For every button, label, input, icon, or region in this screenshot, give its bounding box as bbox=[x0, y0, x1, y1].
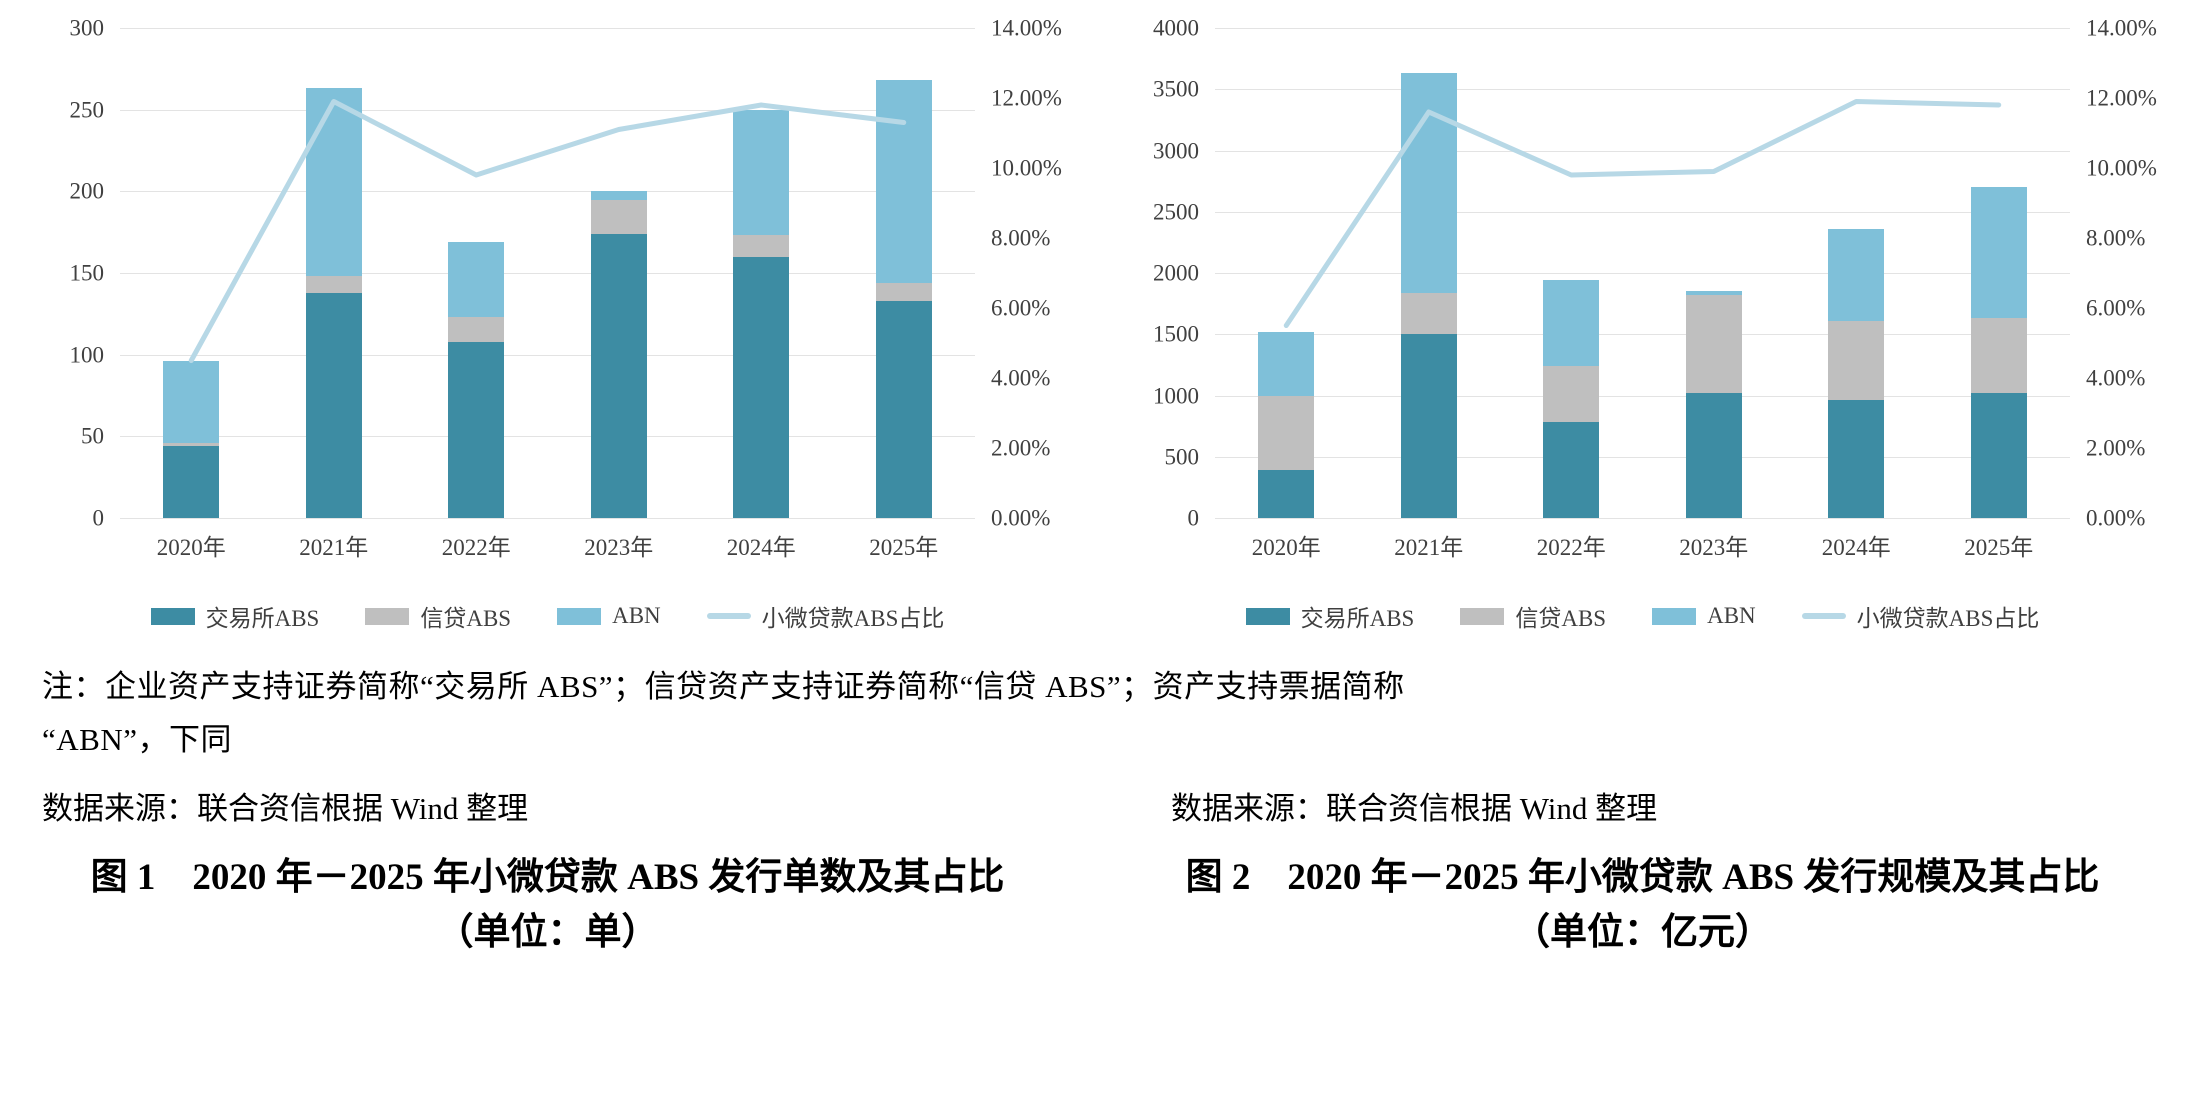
chart-right-line-path bbox=[1286, 102, 1999, 326]
chart-right-tick-right-0: 0.00% bbox=[2070, 507, 2190, 530]
chart-right-tick-left-1: 500 bbox=[1095, 445, 1215, 468]
chart-left-tick-left-2: 100 bbox=[0, 343, 120, 366]
chart-right-x-label: 2024年 bbox=[1785, 528, 1928, 568]
note-line-1: 注：企业资产支持证券简称“交易所 ABS”；信贷资产支持证券简称“信贷 ABS”… bbox=[0, 660, 2190, 713]
chart-right-x-label: 2020年 bbox=[1215, 528, 1358, 568]
chart-left-ratio-line bbox=[120, 28, 975, 518]
chart-right-x-label: 2021年 bbox=[1358, 528, 1501, 568]
caption-figure-2: 图 2 2020 年－2025 年小微贷款 ABS 发行规模及其占比（单位：亿元… bbox=[1095, 850, 2190, 961]
chart-left-tick-right-0: 0.00% bbox=[975, 507, 1095, 530]
chart-right-tick-right-5: 10.00% bbox=[2070, 157, 2190, 180]
chart-right-legend-label: 交易所ABS bbox=[1301, 599, 1415, 633]
page-root: 050100150200250300 0.00%2.00%4.00%6.00%8… bbox=[0, 0, 2190, 1112]
chart-right-x-label: 2025年 bbox=[1928, 528, 2071, 568]
chart-left-legend-item[interactable]: 小微贷款ABS占比 bbox=[707, 599, 945, 633]
chart-right-legend-item[interactable]: 小微贷款ABS占比 bbox=[1802, 599, 2040, 633]
chart-right-x-label: 2023年 bbox=[1643, 528, 1786, 568]
chart-right-line-svg bbox=[1215, 28, 2070, 518]
chart-right-legend-swatch-icon bbox=[1802, 613, 1846, 619]
chart-right-ratio-line bbox=[1215, 28, 2070, 518]
source-right: 数据来源：联合资信根据 Wind 整理 bbox=[1095, 783, 2190, 828]
chart-left-line-path bbox=[191, 102, 904, 361]
notes-section: 注：企业资产支持证券简称“交易所 ABS”；信贷资产支持证券简称“信贷 ABS”… bbox=[0, 660, 2190, 961]
chart-left-x-label: 2021年 bbox=[263, 528, 406, 568]
chart-left-tick-right-5: 10.00% bbox=[975, 157, 1095, 180]
chart-right-legend-swatch-icon bbox=[1652, 608, 1696, 625]
chart-left-tick-right-7: 14.00% bbox=[975, 17, 1095, 40]
chart-left-legend-item[interactable]: 交易所ABS bbox=[151, 599, 320, 633]
chart-left-plot-area bbox=[120, 28, 975, 518]
chart-right-legend-label: 信贷ABS bbox=[1515, 599, 1606, 633]
chart-right-x-axis-labels: 2020年2021年2022年2023年2024年2025年 bbox=[1215, 528, 2070, 568]
chart-right-tick-right-2: 4.00% bbox=[2070, 367, 2190, 390]
chart-left-legend-item[interactable]: 信贷ABS bbox=[365, 599, 511, 633]
chart-right-tick-left-0: 0 bbox=[1095, 507, 1215, 530]
chart-right-tick-right-3: 6.00% bbox=[2070, 297, 2190, 320]
chart-right-tick-left-8: 4000 bbox=[1095, 17, 1215, 40]
chart-left-tick-left-0: 0 bbox=[0, 507, 120, 530]
note-line-2: “ABN”，下同 bbox=[0, 713, 2190, 766]
chart-right-legend: 交易所ABS信贷ABSABN小微贷款ABS占比 bbox=[1095, 596, 2190, 636]
chart-left-tick-left-1: 50 bbox=[0, 425, 120, 448]
chart-left-y-axis-right: 0.00%2.00%4.00%6.00%8.00%10.00%12.00%14.… bbox=[975, 28, 1095, 518]
chart-right-tick-left-3: 1500 bbox=[1095, 323, 1215, 346]
chart-left-legend-label: 小微贷款ABS占比 bbox=[762, 599, 945, 633]
chart-left-x-label: 2024年 bbox=[690, 528, 833, 568]
chart-left-tick-left-6: 300 bbox=[0, 17, 120, 40]
chart-left-tick-left-5: 250 bbox=[0, 98, 120, 121]
chart-left-y-axis-left: 050100150200250300 bbox=[0, 28, 120, 518]
chart-left-legend-label: 交易所ABS bbox=[206, 599, 320, 633]
chart-left-legend: 交易所ABS信贷ABSABN小微贷款ABS占比 bbox=[0, 596, 1095, 636]
sources-row: 数据来源：联合资信根据 Wind 整理 数据来源：联合资信根据 Wind 整理 bbox=[0, 783, 2190, 828]
caption-figure-1: 图 1 2020 年－2025 年小微贷款 ABS 发行单数及其占比（单位：单） bbox=[0, 850, 1095, 961]
chart-right-y-axis-right: 0.00%2.00%4.00%6.00%8.00%10.00%12.00%14.… bbox=[2070, 28, 2190, 518]
chart-left-legend-swatch-icon bbox=[151, 608, 195, 625]
chart-left-x-label: 2025年 bbox=[833, 528, 976, 568]
chart-left-tick-right-1: 2.00% bbox=[975, 437, 1095, 460]
chart-left-legend-swatch-icon bbox=[557, 608, 601, 625]
chart-right-legend-item[interactable]: ABN bbox=[1652, 603, 1756, 629]
chart-left-tick-right-2: 4.00% bbox=[975, 367, 1095, 390]
chart-right-x-label: 2022年 bbox=[1500, 528, 1643, 568]
chart-left-legend-label: 信贷ABS bbox=[420, 599, 511, 633]
chart-right-legend-swatch-icon bbox=[1246, 608, 1290, 625]
chart-right-tick-left-7: 3500 bbox=[1095, 78, 1215, 101]
chart-right-plot-wrap: 05001000150020002500300035004000 0.00%2.… bbox=[1095, 0, 2190, 560]
chart-left-legend-label: ABN bbox=[612, 603, 661, 629]
chart-left-gridline-0 bbox=[120, 518, 975, 519]
chart-left-line-svg bbox=[120, 28, 975, 518]
chart-right-legend-label: ABN bbox=[1707, 603, 1756, 629]
chart-left-tick-left-3: 150 bbox=[0, 262, 120, 285]
chart-left: 050100150200250300 0.00%2.00%4.00%6.00%8… bbox=[0, 0, 1095, 660]
chart-left-x-axis-labels: 2020年2021年2022年2023年2024年2025年 bbox=[120, 528, 975, 568]
chart-left-legend-swatch-icon bbox=[707, 613, 751, 619]
chart-right-tick-right-4: 8.00% bbox=[2070, 227, 2190, 250]
chart-right-y-axis-left: 05001000150020002500300035004000 bbox=[1095, 28, 1215, 518]
chart-left-plot-wrap: 050100150200250300 0.00%2.00%4.00%6.00%8… bbox=[0, 0, 1095, 560]
chart-right-tick-right-6: 12.00% bbox=[2070, 87, 2190, 110]
chart-left-x-label: 2020年 bbox=[120, 528, 263, 568]
chart-right-legend-item[interactable]: 交易所ABS bbox=[1246, 599, 1415, 633]
chart-right-tick-left-4: 2000 bbox=[1095, 262, 1215, 285]
captions-row: 图 1 2020 年－2025 年小微贷款 ABS 发行单数及其占比（单位：单）… bbox=[0, 850, 2190, 961]
chart-right-legend-swatch-icon bbox=[1460, 608, 1504, 625]
chart-right-legend-item[interactable]: 信贷ABS bbox=[1460, 599, 1606, 633]
chart-right-tick-left-2: 1000 bbox=[1095, 384, 1215, 407]
charts-row: 050100150200250300 0.00%2.00%4.00%6.00%8… bbox=[0, 0, 2190, 660]
chart-left-x-label: 2023年 bbox=[548, 528, 691, 568]
chart-left-tick-right-4: 8.00% bbox=[975, 227, 1095, 250]
chart-right-tick-left-5: 2500 bbox=[1095, 200, 1215, 223]
chart-right-tick-right-1: 2.00% bbox=[2070, 437, 2190, 460]
chart-left-legend-item[interactable]: ABN bbox=[557, 603, 661, 629]
chart-right-tick-right-7: 14.00% bbox=[2070, 17, 2190, 40]
chart-right-legend-label: 小微贷款ABS占比 bbox=[1857, 599, 2040, 633]
chart-left-tick-left-4: 200 bbox=[0, 180, 120, 203]
chart-right-gridline-0 bbox=[1215, 518, 2070, 519]
chart-left-tick-right-3: 6.00% bbox=[975, 297, 1095, 320]
chart-left-x-label: 2022年 bbox=[405, 528, 548, 568]
chart-right: 05001000150020002500300035004000 0.00%2.… bbox=[1095, 0, 2190, 660]
chart-left-tick-right-6: 12.00% bbox=[975, 87, 1095, 110]
chart-right-tick-left-6: 3000 bbox=[1095, 139, 1215, 162]
source-left: 数据来源：联合资信根据 Wind 整理 bbox=[0, 783, 1095, 828]
chart-left-legend-swatch-icon bbox=[365, 608, 409, 625]
chart-right-plot-area bbox=[1215, 28, 2070, 518]
